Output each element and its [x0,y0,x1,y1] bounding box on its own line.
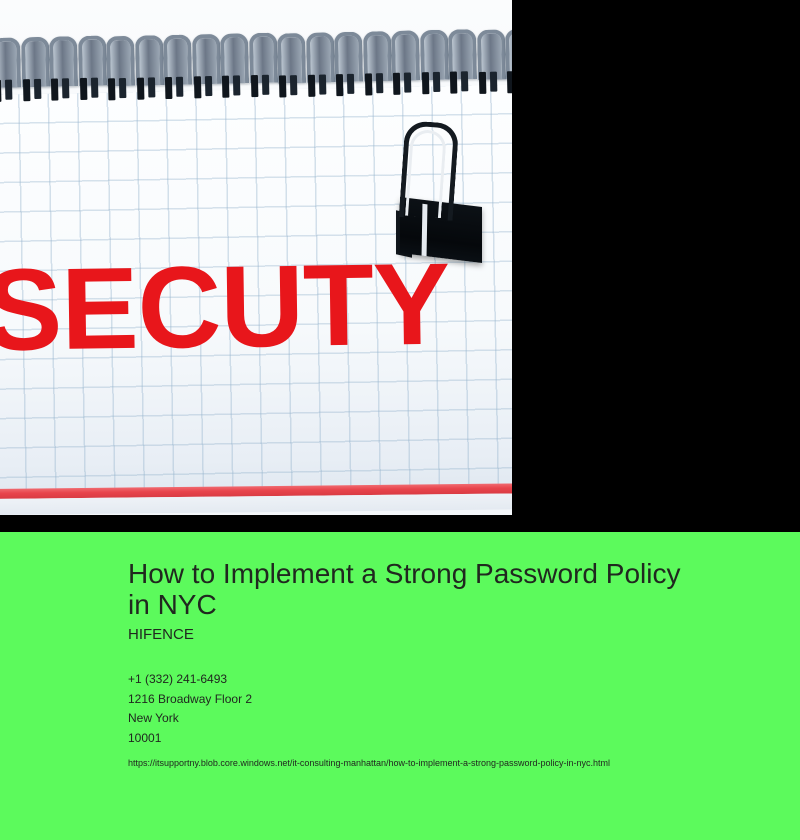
spiral-ring-foot-left [478,71,485,93]
spiral-ring-icon [191,34,212,100]
spiral-ring-icon [220,34,241,100]
spiral-ring-foot-right [461,72,468,92]
spiral-ring-foot-left [51,79,58,101]
contact-city: New York [128,709,768,729]
spiral-ring-foot-right [147,77,154,97]
spiral-ring-foot-right [62,79,69,99]
spiral-ring-foot-left [364,73,371,95]
spiral-ring-icon [20,37,41,103]
spiral-ring-foot-right [347,74,354,94]
spiral-ring-foot-left [165,77,172,99]
spiral-ring-icon [134,35,155,101]
spiral-ring-foot-left [336,74,343,96]
spiral-ring-foot-left [136,77,143,99]
spiral-ring-foot-left [393,73,400,95]
spiral-ring-foot-left [450,72,457,94]
spiral-ring-foot-right [318,74,325,94]
spiral-ring-icon [49,37,70,103]
spiral-ring-icon [0,38,13,104]
page-title: How to Implement a Strong Password Polic… [128,558,688,620]
spiral-ring-icon [77,36,98,102]
spiral-ring-icon [106,36,127,102]
spiral-ring-foot-right [404,73,411,93]
spiral-ring-foot-left [222,76,229,98]
page-root: SECUTY How to Implement a Strong Passwor… [0,0,800,840]
spiral-ring-foot-left [307,74,314,96]
spiral-ring-foot-left [22,79,29,101]
spiral-ring-foot-right [176,77,183,97]
spiral-ring-foot-left [507,71,512,93]
spiral-ring-foot-right [204,76,211,96]
contact-address-line1: 1216 Broadway Floor 2 [128,690,768,710]
spiral-ring-foot-right [375,73,382,93]
source-url[interactable]: https://itsupportny.blob.core.windows.ne… [128,757,768,769]
spiral-ring-icon [448,30,469,96]
spiral-ring-foot-right [119,78,126,98]
spiral-ring-icon [305,32,326,98]
spiral-ring-icon [419,30,440,96]
spiral-ring-foot-right [489,71,496,91]
spiral-ring-icon [277,33,298,99]
spiral-ring-foot-left [421,72,428,94]
spiral-ring-foot-left [108,78,115,100]
spiral-ring-icon [163,35,184,101]
spiral-ring-foot-right [90,78,97,98]
spiral-ring-icon [248,33,269,99]
contact-block: +1 (332) 241-6493 1216 Broadway Floor 2 … [128,670,768,748]
spiral-ring-foot-right [233,76,240,96]
spiral-ring-icon [391,31,412,97]
info-panel: How to Implement a Strong Password Polic… [0,532,800,840]
contact-postal-code: 10001 [128,729,768,749]
spiral-ring-icon [476,29,497,95]
info-panel-content: How to Implement a Strong Password Polic… [128,558,768,769]
spiral-ring-foot-left [79,78,86,100]
spiral-ring-foot-right [261,75,268,95]
spiral-ring-foot-right [33,79,40,99]
spiral-ring-icon [505,29,512,95]
spiral-ring-foot-right [432,72,439,92]
spiral-ring-foot-left [279,75,286,97]
spiral-ring-icon [362,31,383,97]
spiral-ring-icon [334,32,355,98]
hero-headline: SECUTY [0,244,512,368]
spiral-ring-foot-right [290,75,297,95]
spiral-ring-foot-left [193,76,200,98]
spiral-ring-foot-right [5,80,12,100]
spiral-binding [0,26,512,118]
contact-phone[interactable]: +1 (332) 241-6493 [128,670,768,690]
brand-name: HIFENCE [128,626,768,644]
hero-image: SECUTY [0,0,512,515]
spiral-ring-foot-left [250,75,257,97]
